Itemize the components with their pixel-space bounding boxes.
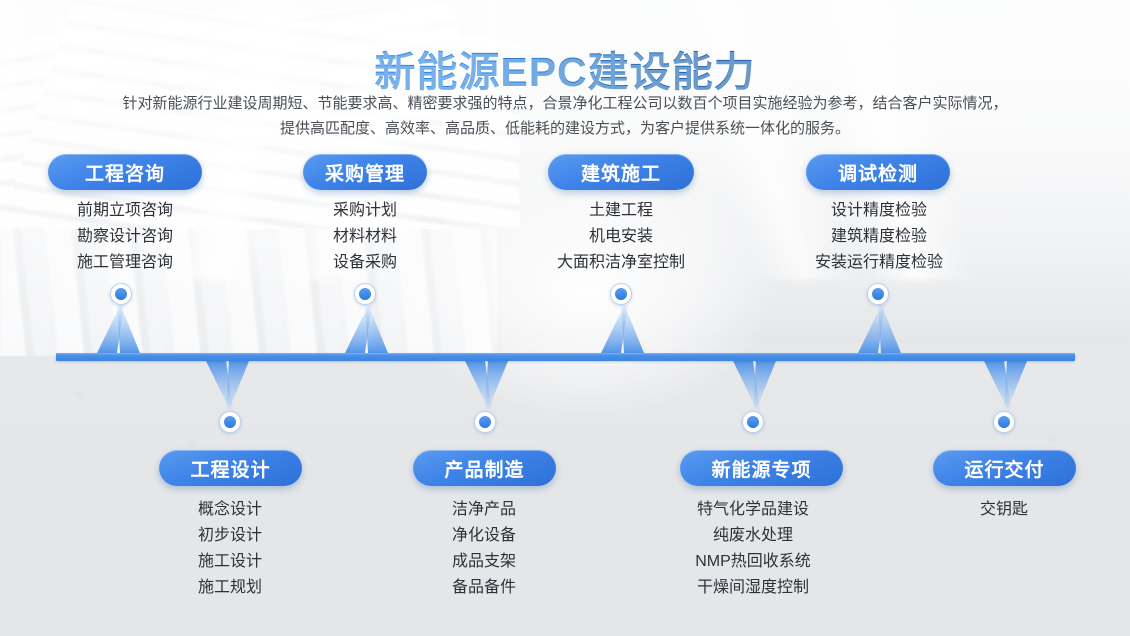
stage-items-consulting: 前期立项咨询 勘察设计咨询 施工管理咨询: [77, 198, 173, 276]
stage-pill-procurement[interactable]: 采购管理: [303, 154, 427, 190]
stage-item: 施工规划: [198, 575, 262, 601]
node-dot-manufacturing[interactable]: [474, 411, 496, 433]
stage-pill-label: 工程咨询: [85, 159, 165, 186]
stage-item: 净化设备: [452, 523, 516, 549]
stage-pill-manufacturing[interactable]: 产品制造: [413, 450, 556, 486]
stage-pill-label: 产品制造: [444, 455, 524, 482]
stage-item: 材料材料: [333, 224, 397, 250]
stage-item: 安装运行精度检验: [815, 250, 943, 276]
stage-pill-label: 工程设计: [190, 455, 270, 482]
stage-item: NMP热回收系统: [695, 549, 811, 575]
node-dot-new-energy[interactable]: [742, 411, 764, 433]
stage-item: 洁净产品: [452, 497, 516, 523]
stage-item: 前期立项咨询: [77, 198, 173, 224]
stage-items-manufacturing: 洁净产品 净化设备 成品支架 备品备件: [452, 497, 516, 601]
stage-item: 干燥间湿度控制: [695, 575, 811, 601]
stage-pill-construction[interactable]: 建筑施工: [548, 154, 694, 190]
stage-item: 备品备件: [452, 575, 516, 601]
stage-pill-label: 采购管理: [325, 159, 405, 186]
node-dot-commissioning[interactable]: [867, 283, 889, 305]
node-dot-procurement[interactable]: [354, 283, 376, 305]
stage-item: 建筑精度检验: [815, 224, 943, 250]
stage-items-procurement: 采购计划 材料材料 设备采购: [333, 198, 397, 276]
stage-item: 采购计划: [333, 198, 397, 224]
stage-items-design: 概念设计 初步设计 施工设计 施工规划: [198, 497, 262, 601]
timeline-connectors: [0, 0, 1130, 636]
stage-item: 概念设计: [198, 497, 262, 523]
stage-pill-consulting[interactable]: 工程咨询: [48, 154, 202, 190]
stage-pill-label: 新能源专项: [711, 455, 811, 482]
node-dot-delivery[interactable]: [993, 411, 1015, 433]
timeline-bar: [56, 353, 1075, 361]
stage-pill-new-energy[interactable]: 新能源专项: [680, 450, 843, 486]
stage-pill-delivery[interactable]: 运行交付: [933, 450, 1076, 486]
stage-items-commissioning: 设计精度检验 建筑精度检验 安装运行精度检验: [815, 198, 943, 276]
stage-item: 设计精度检验: [815, 198, 943, 224]
stage-items-delivery: 交钥匙: [980, 497, 1028, 523]
stage-item: 交钥匙: [980, 497, 1028, 523]
stage-item: 施工管理咨询: [77, 250, 173, 276]
stage-item: 勘察设计咨询: [77, 224, 173, 250]
stage-pill-commissioning[interactable]: 调试检测: [806, 154, 950, 190]
stage-pill-label: 建筑施工: [581, 159, 661, 186]
stage-item: 施工设计: [198, 549, 262, 575]
stage-item: 特气化学品建设: [695, 497, 811, 523]
stage-item: 大面积洁净室控制: [557, 250, 685, 276]
node-dot-design[interactable]: [219, 411, 241, 433]
stage-item: 成品支架: [452, 549, 516, 575]
stage-item: 初步设计: [198, 523, 262, 549]
connector-up-group: [97, 304, 901, 353]
stage-item: 设备采购: [333, 250, 397, 276]
stage-item: 机电安装: [557, 224, 685, 250]
stage-items-new-energy: 特气化学品建设 纯废水处理 NMP热回收系统 干燥间湿度控制: [695, 497, 811, 601]
node-dot-construction[interactable]: [610, 283, 632, 305]
stage-item: 土建工程: [557, 198, 685, 224]
stage-item: 纯废水处理: [695, 523, 811, 549]
stage-items-construction: 土建工程 机电安装 大面积洁净室控制: [557, 198, 685, 276]
stage-pill-label: 运行交付: [964, 455, 1044, 482]
node-dot-consulting[interactable]: [110, 283, 132, 305]
connector-down-group: [206, 361, 1027, 410]
stage-pill-design[interactable]: 工程设计: [159, 450, 302, 486]
stage-pill-label: 调试检测: [838, 159, 918, 186]
